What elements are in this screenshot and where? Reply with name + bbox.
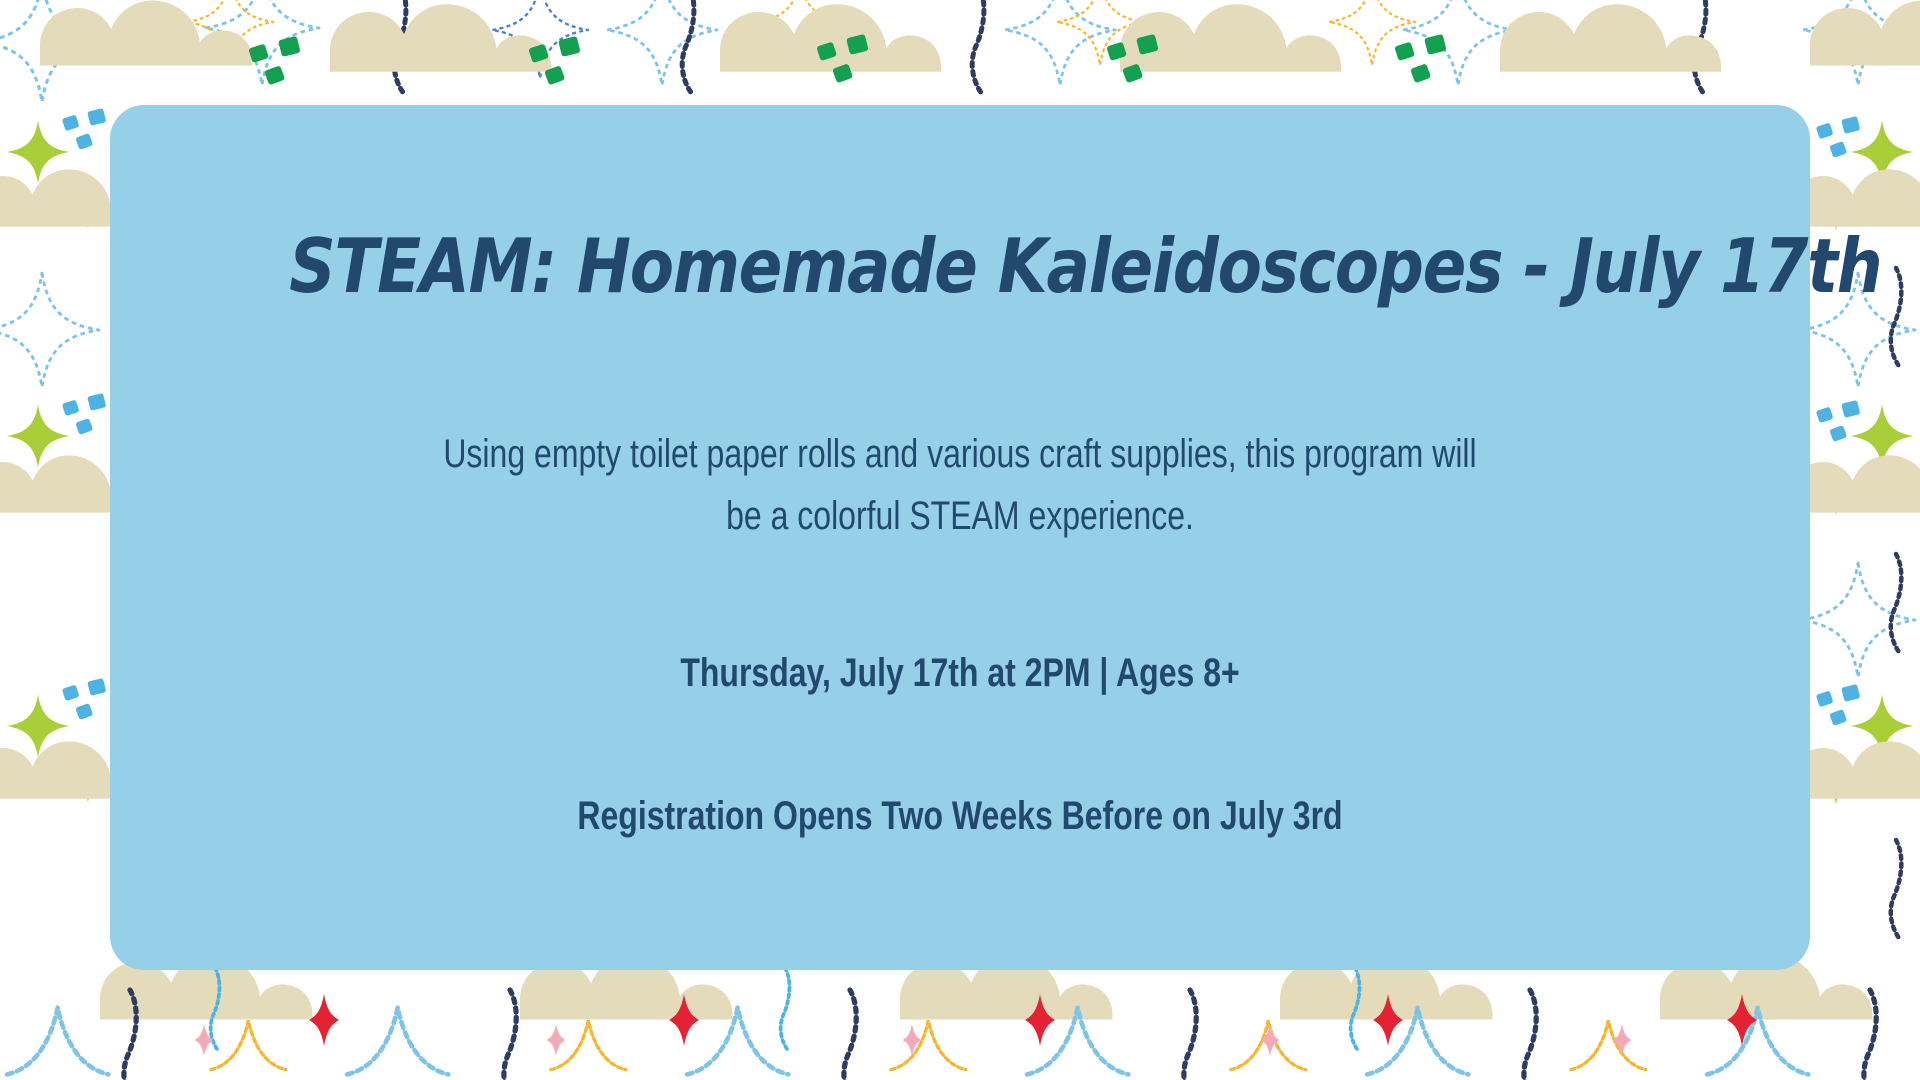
event-description: Using empty toilet paper rolls and vario… [424, 423, 1496, 547]
page-title: STEAM: Homemade Kaleidoscopes - July 17t… [289, 227, 1631, 307]
event-card: STEAM: Homemade Kaleidoscopes - July 17t… [110, 105, 1810, 970]
event-datetime-ages: Thursday, July 17th at 2PM | Ages 8+ [336, 651, 1584, 696]
flyer-canvas: STEAM: Homemade Kaleidoscopes - July 17t… [0, 0, 1920, 1080]
registration-notice: Registration Opens Two Weeks Before on J… [336, 794, 1584, 839]
